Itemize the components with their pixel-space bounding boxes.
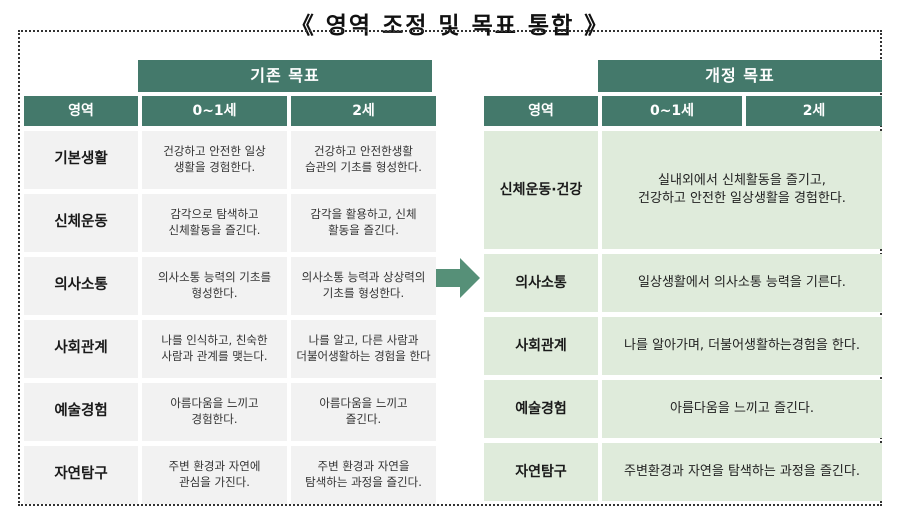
column-header-area: 영역: [484, 96, 598, 126]
goal-line: 기초를 형성한다.: [302, 286, 426, 302]
existing-goals-banner: 기존 목표: [138, 60, 432, 92]
table-row: 사회관계 나를 알아가며, 더불어생활하는경험을 한다.: [484, 317, 882, 375]
area-label: 사회관계: [24, 320, 138, 378]
existing-goals-banner-row: 기존 목표: [24, 60, 432, 92]
goal-age-2: 의사소통 능력과 상상력의기초를 형성한다.: [291, 257, 436, 315]
column-header-area: 영역: [24, 96, 138, 126]
revised-goals-banner: 개정 목표: [598, 60, 882, 92]
goal-line: 건강하고 안전한 일상생활을 경험한다.: [638, 190, 846, 208]
area-label: 신체운동·건강: [484, 131, 598, 249]
area-label: 자연탐구: [24, 446, 138, 504]
existing-goals-column-header-row: 영역 0~1세 2세: [24, 96, 432, 126]
table-row: 예술경험 아름다움을 느끼고 즐긴다.: [484, 380, 882, 438]
goal-line: 아름다움을 느끼고: [170, 396, 258, 412]
goal-age-0-1: 의사소통 능력의 기초를형성한다.: [142, 257, 287, 315]
banner-spacer: [484, 60, 598, 92]
goal-age-0-1: 감각으로 탐색하고신체활동을 즐긴다.: [142, 194, 287, 252]
table-row: 신체운동 감각으로 탐색하고신체활동을 즐긴다. 감각을 활용하고, 신체활동을…: [24, 194, 432, 252]
goal-age-2: 감각을 활용하고, 신체활동을 즐긴다.: [291, 194, 436, 252]
goal-line: 건강하고 안전한 일상: [163, 144, 266, 160]
merged-goal: 일상생활에서 의사소통 능력을 기른다.: [602, 254, 882, 312]
table-row: 신체운동·건강 실내외에서 신체활동을 즐기고,건강하고 안전한 일상생활을 경…: [484, 131, 882, 249]
goal-line: 관심을 가진다.: [169, 475, 261, 491]
column-header-age-0-1: 0~1세: [602, 96, 742, 126]
revised-goals-table: 개정 목표 영역 0~1세 2세 신체운동·건강 실내외에서 신체활동을 즐기고…: [484, 60, 882, 501]
goal-line: 실내외에서 신체활동을 즐기고,: [638, 172, 846, 190]
goal-age-2: 주변 환경과 자연을탐색하는 과정을 즐긴다.: [291, 446, 436, 504]
goal-line: 신체활동을 즐긴다.: [169, 223, 261, 239]
table-row: 자연탐구 주변환경과 자연을 탐색하는 과정을 즐긴다.: [484, 443, 882, 501]
goal-line: 경험한다.: [170, 412, 258, 428]
page-root: 《 영역 조정 및 목표 통합 》 기존 목표 영역 0~1세 2세 기본생활 …: [0, 0, 900, 515]
column-header-age-0-1: 0~1세: [142, 96, 287, 126]
existing-goals-table: 기존 목표 영역 0~1세 2세 기본생활 건강하고 안전한 일상생활을 경험한…: [24, 60, 432, 504]
revised-goals-banner-row: 개정 목표: [484, 60, 882, 92]
goal-line: 감각을 활용하고, 신체: [310, 207, 416, 223]
goal-line: 감각으로 탐색하고: [169, 207, 261, 223]
goal-line: 나를 알고, 다른 사람과: [296, 333, 430, 349]
goal-line: 나를 알아가며, 더불어생활하는경험을 한다.: [624, 337, 860, 355]
area-label: 예술경험: [484, 380, 598, 438]
area-label: 기본생활: [24, 131, 138, 189]
goal-line: 더불어생활하는 경험을 한다: [296, 349, 430, 365]
goal-age-0-1: 건강하고 안전한 일상생활을 경험한다.: [142, 131, 287, 189]
merged-goal: 나를 알아가며, 더불어생활하는경험을 한다.: [602, 317, 882, 375]
goal-age-2: 나를 알고, 다른 사람과더불어생활하는 경험을 한다: [291, 320, 436, 378]
area-label: 예술경험: [24, 383, 138, 441]
revised-goals-body: 신체운동·건강 실내외에서 신체활동을 즐기고,건강하고 안전한 일상생활을 경…: [484, 131, 882, 501]
merged-goal: 주변환경과 자연을 탐색하는 과정을 즐긴다.: [602, 443, 882, 501]
area-label: 의사소통: [24, 257, 138, 315]
revised-goals-column-header-row: 영역 0~1세 2세: [484, 96, 882, 126]
goal-line: 주변 환경과 자연에: [169, 459, 261, 475]
table-row: 예술경험 아름다움을 느끼고경험한다. 아름다움을 느끼고즐긴다.: [24, 383, 432, 441]
merged-goal: 실내외에서 신체활동을 즐기고,건강하고 안전한 일상생활을 경험한다.: [602, 131, 882, 249]
existing-goals-body: 기본생활 건강하고 안전한 일상생활을 경험한다. 건강하고 안전한생활습관의 …: [24, 131, 432, 504]
column-header-age-2: 2세: [291, 96, 436, 126]
goal-line: 건강하고 안전한생활: [305, 144, 422, 160]
area-label: 신체운동: [24, 194, 138, 252]
goal-line: 습관의 기초를 형성한다.: [305, 160, 422, 176]
area-label: 자연탐구: [484, 443, 598, 501]
right-arrow-icon: [436, 255, 480, 301]
table-row: 자연탐구 주변 환경과 자연에관심을 가진다. 주변 환경과 자연을탐색하는 과…: [24, 446, 432, 504]
goal-line: 의사소통 능력의 기초를: [158, 270, 271, 286]
table-row: 기본생활 건강하고 안전한 일상생활을 경험한다. 건강하고 안전한생활습관의 …: [24, 131, 432, 189]
table-row: 의사소통 일상생활에서 의사소통 능력을 기른다.: [484, 254, 882, 312]
goal-age-0-1: 나를 인식하고, 친숙한사람과 관계를 맺는다.: [142, 320, 287, 378]
column-header-age-2: 2세: [746, 96, 882, 126]
goal-line: 형성한다.: [158, 286, 271, 302]
goal-line: 즐긴다.: [319, 412, 407, 428]
goal-line: 일상생활에서 의사소통 능력을 기른다.: [638, 274, 846, 292]
merged-goal: 아름다움을 느끼고 즐긴다.: [602, 380, 882, 438]
goal-line: 주변환경과 자연을 탐색하는 과정을 즐긴다.: [624, 463, 860, 481]
goal-age-2: 아름다움을 느끼고즐긴다.: [291, 383, 436, 441]
goal-line: 의사소통 능력과 상상력의: [302, 270, 426, 286]
goal-age-0-1: 아름다움을 느끼고경험한다.: [142, 383, 287, 441]
goal-line: 나를 인식하고, 친숙한: [161, 333, 267, 349]
goal-line: 생활을 경험한다.: [163, 160, 266, 176]
goal-age-2: 건강하고 안전한생활습관의 기초를 형성한다.: [291, 131, 436, 189]
goal-line: 아름다움을 느끼고 즐긴다.: [670, 400, 814, 418]
table-row: 의사소통 의사소통 능력의 기초를형성한다. 의사소통 능력과 상상력의기초를 …: [24, 257, 432, 315]
goal-line: 사람과 관계를 맺는다.: [161, 349, 267, 365]
area-label: 의사소통: [484, 254, 598, 312]
goal-line: 탐색하는 과정을 즐긴다.: [305, 475, 422, 491]
goal-line: 주변 환경과 자연을: [305, 459, 422, 475]
goal-line: 아름다움을 느끼고: [319, 396, 407, 412]
area-label: 사회관계: [484, 317, 598, 375]
goal-line: 활동을 즐긴다.: [310, 223, 416, 239]
banner-spacer: [24, 60, 138, 92]
goal-age-0-1: 주변 환경과 자연에관심을 가진다.: [142, 446, 287, 504]
table-row: 사회관계 나를 인식하고, 친숙한사람과 관계를 맺는다. 나를 알고, 다른 …: [24, 320, 432, 378]
